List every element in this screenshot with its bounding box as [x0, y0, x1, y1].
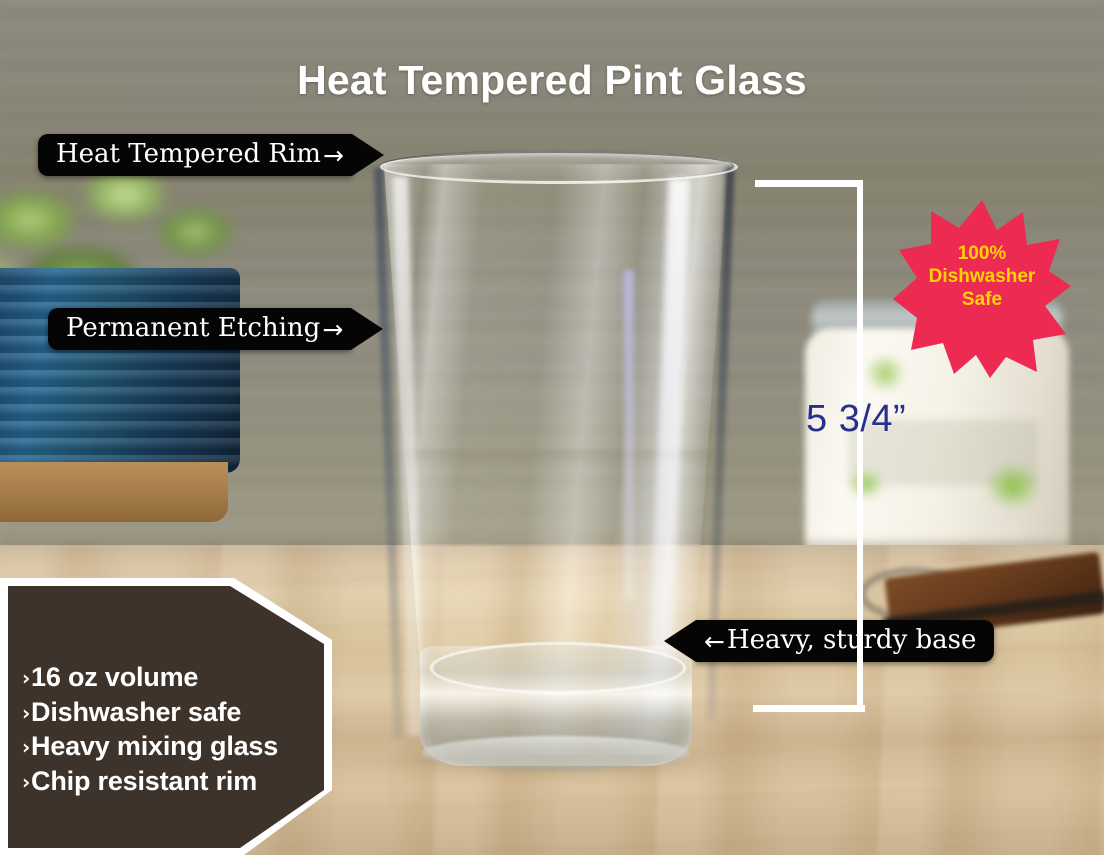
arrow-left-icon: ←: [702, 629, 727, 654]
callout-base-body: ← Heavy, sturdy base: [696, 620, 994, 662]
glass-base-ellipse: [430, 642, 686, 694]
callout-rim-label: Heat Tempered Rim: [56, 139, 321, 172]
arrow-right-icon: →: [321, 143, 346, 168]
planter-ribbing: [0, 268, 240, 473]
callout-heavy-sturdy-base: ← Heavy, sturdy base: [664, 620, 994, 662]
chevron-right-icon: ›: [22, 701, 30, 727]
glass-foot: [422, 736, 690, 770]
callout-permanent-etching: Permanent Etching →: [48, 308, 383, 350]
dimension-line: [857, 185, 863, 712]
pint-glass: [378, 150, 734, 770]
list-item: › 16 oz volume: [22, 660, 322, 695]
dimension-tick-bottom: [753, 705, 865, 712]
callout-base-label: Heavy, sturdy base: [727, 625, 976, 658]
chevron-right-icon: ›: [22, 666, 30, 692]
features-list: › 16 oz volume › Dishwasher safe › Heavy…: [22, 660, 322, 798]
features-panel: › 16 oz volume › Dishwasher safe › Heavy…: [0, 578, 332, 855]
dimension-label: 5 3/4”: [806, 398, 906, 441]
starburst-icon: [893, 198, 1071, 378]
dimension-tick-top: [755, 180, 863, 187]
callout-etch-body: Permanent Etching →: [48, 308, 351, 350]
callout-rim-body: Heat Tempered Rim →: [38, 134, 352, 176]
arrow-right-icon: →: [320, 317, 345, 342]
page-title: Heat Tempered Pint Glass: [0, 57, 1104, 104]
list-item: › Chip resistant rim: [22, 764, 322, 799]
glass-highlight-inner: [624, 270, 634, 600]
feature-label: Chip resistant rim: [31, 764, 257, 799]
callout-heat-tempered-rim: Heat Tempered Rim →: [38, 134, 384, 176]
feature-label: 16 oz volume: [31, 660, 198, 695]
feature-label: Heavy mixing glass: [31, 729, 278, 764]
chevron-right-icon: ›: [22, 735, 30, 761]
planter-wood-base: [0, 462, 228, 522]
callout-base-pointer: [664, 620, 696, 662]
list-item: › Dishwasher safe: [22, 695, 322, 730]
glass-rim-shadow: [380, 150, 734, 181]
callout-etch-pointer: [351, 308, 383, 350]
product-infographic: Heat Tempered Pint Glass Heat Tempered R…: [0, 0, 1104, 855]
dishwasher-safe-badge: 100% Dishwasher Safe: [893, 198, 1071, 378]
callout-rim-pointer: [352, 134, 384, 176]
list-item: › Heavy mixing glass: [22, 729, 322, 764]
feature-label: Dishwasher safe: [31, 695, 241, 730]
chevron-right-icon: ›: [22, 770, 30, 796]
callout-etch-label: Permanent Etching: [66, 313, 320, 346]
